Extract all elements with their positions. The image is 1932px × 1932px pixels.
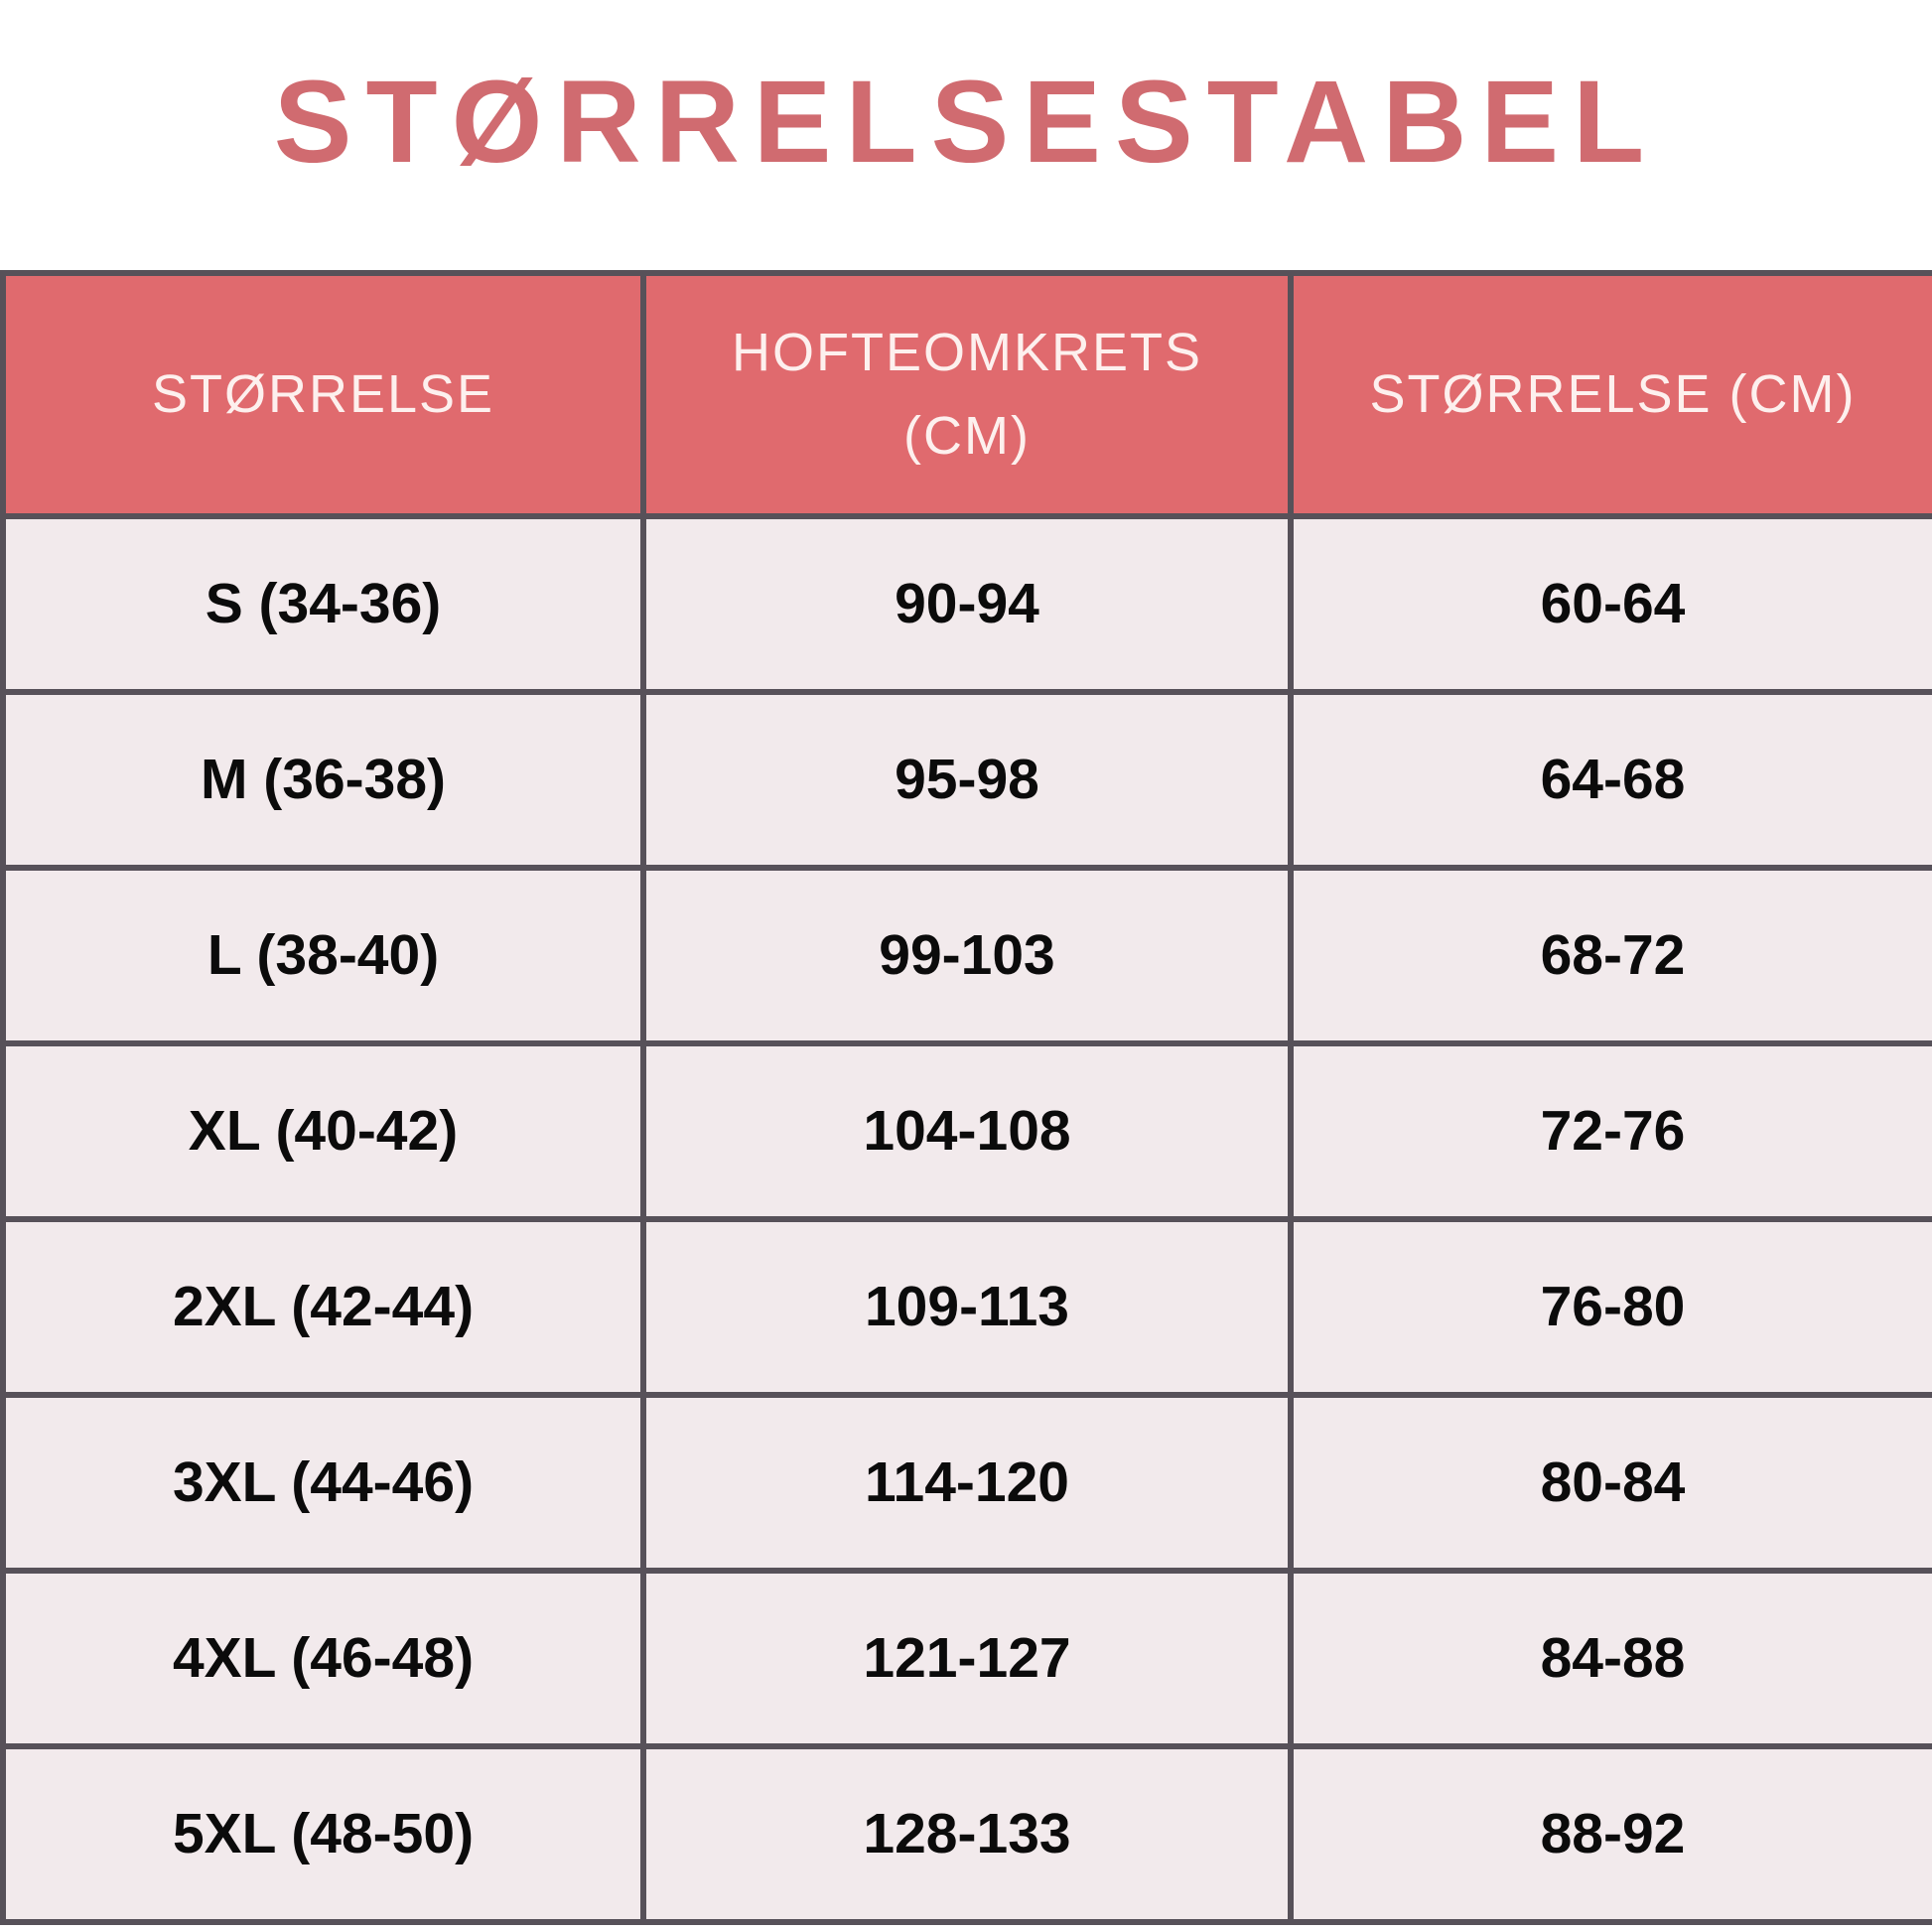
- cell-hip: 104-108: [643, 1043, 1291, 1219]
- table-row: 4XL (46-48) 121-127 84-88: [3, 1571, 1932, 1746]
- table-row: L (38-40) 99-103 68-72: [3, 868, 1932, 1043]
- cell-hip: 90-94: [643, 516, 1291, 692]
- cell-length: 76-80: [1291, 1219, 1932, 1395]
- cell-length: 88-92: [1291, 1746, 1932, 1922]
- cell-size: S (34-36): [3, 516, 643, 692]
- column-header-size: STØRRELSE: [3, 273, 643, 516]
- column-header-length-line-1: STØRRELSE (CM): [1308, 353, 1918, 437]
- cell-hip: 128-133: [643, 1746, 1291, 1922]
- cell-length: 68-72: [1291, 868, 1932, 1043]
- table-body: S (34-36) 90-94 60-64 M (36-38) 95-98 64…: [3, 516, 1932, 1922]
- table-row: 5XL (48-50) 128-133 88-92: [3, 1746, 1932, 1922]
- cell-length: 84-88: [1291, 1571, 1932, 1746]
- size-chart-table: STØRRELSE HOFTEOMKRETS (CM) STØRRELSE (C…: [0, 270, 1932, 1925]
- column-header-hip-line-2: (CM): [660, 395, 1274, 479]
- cell-length: 80-84: [1291, 1395, 1932, 1571]
- table-row: M (36-38) 95-98 64-68: [3, 692, 1932, 868]
- cell-size: M (36-38): [3, 692, 643, 868]
- size-chart-page: STØRRELSESTABEL STØRRELSE HOFTEOMKRETS (…: [0, 0, 1932, 1932]
- cell-hip: 109-113: [643, 1219, 1291, 1395]
- cell-hip: 99-103: [643, 868, 1291, 1043]
- table-row: 2XL (42-44) 109-113 76-80: [3, 1219, 1932, 1395]
- page-title: STØRRELSESTABEL: [274, 64, 1658, 181]
- cell-size: 2XL (42-44): [3, 1219, 643, 1395]
- cell-length: 64-68: [1291, 692, 1932, 868]
- cell-size: XL (40-42): [3, 1043, 643, 1219]
- table-row: S (34-36) 90-94 60-64: [3, 516, 1932, 692]
- cell-length: 72-76: [1291, 1043, 1932, 1219]
- cell-hip: 114-120: [643, 1395, 1291, 1571]
- cell-size: 4XL (46-48): [3, 1571, 643, 1746]
- table-row: 3XL (44-46) 114-120 80-84: [3, 1395, 1932, 1571]
- cell-size: 5XL (48-50): [3, 1746, 643, 1922]
- column-header-length: STØRRELSE (CM): [1291, 273, 1932, 516]
- column-header-size-line-1: STØRRELSE: [20, 353, 626, 437]
- cell-hip: 95-98: [643, 692, 1291, 868]
- column-header-hip-line-1: HOFTEOMKRETS: [660, 312, 1274, 395]
- cell-size: 3XL (44-46): [3, 1395, 643, 1571]
- column-header-hip: HOFTEOMKRETS (CM): [643, 273, 1291, 516]
- cell-hip: 121-127: [643, 1571, 1291, 1746]
- table-row: XL (40-42) 104-108 72-76: [3, 1043, 1932, 1219]
- page-title-bar: STØRRELSESTABEL: [0, 0, 1932, 270]
- cell-size: L (38-40): [3, 868, 643, 1043]
- cell-length: 60-64: [1291, 516, 1932, 692]
- table-header: STØRRELSE HOFTEOMKRETS (CM) STØRRELSE (C…: [3, 273, 1932, 516]
- table-header-row: STØRRELSE HOFTEOMKRETS (CM) STØRRELSE (C…: [3, 273, 1932, 516]
